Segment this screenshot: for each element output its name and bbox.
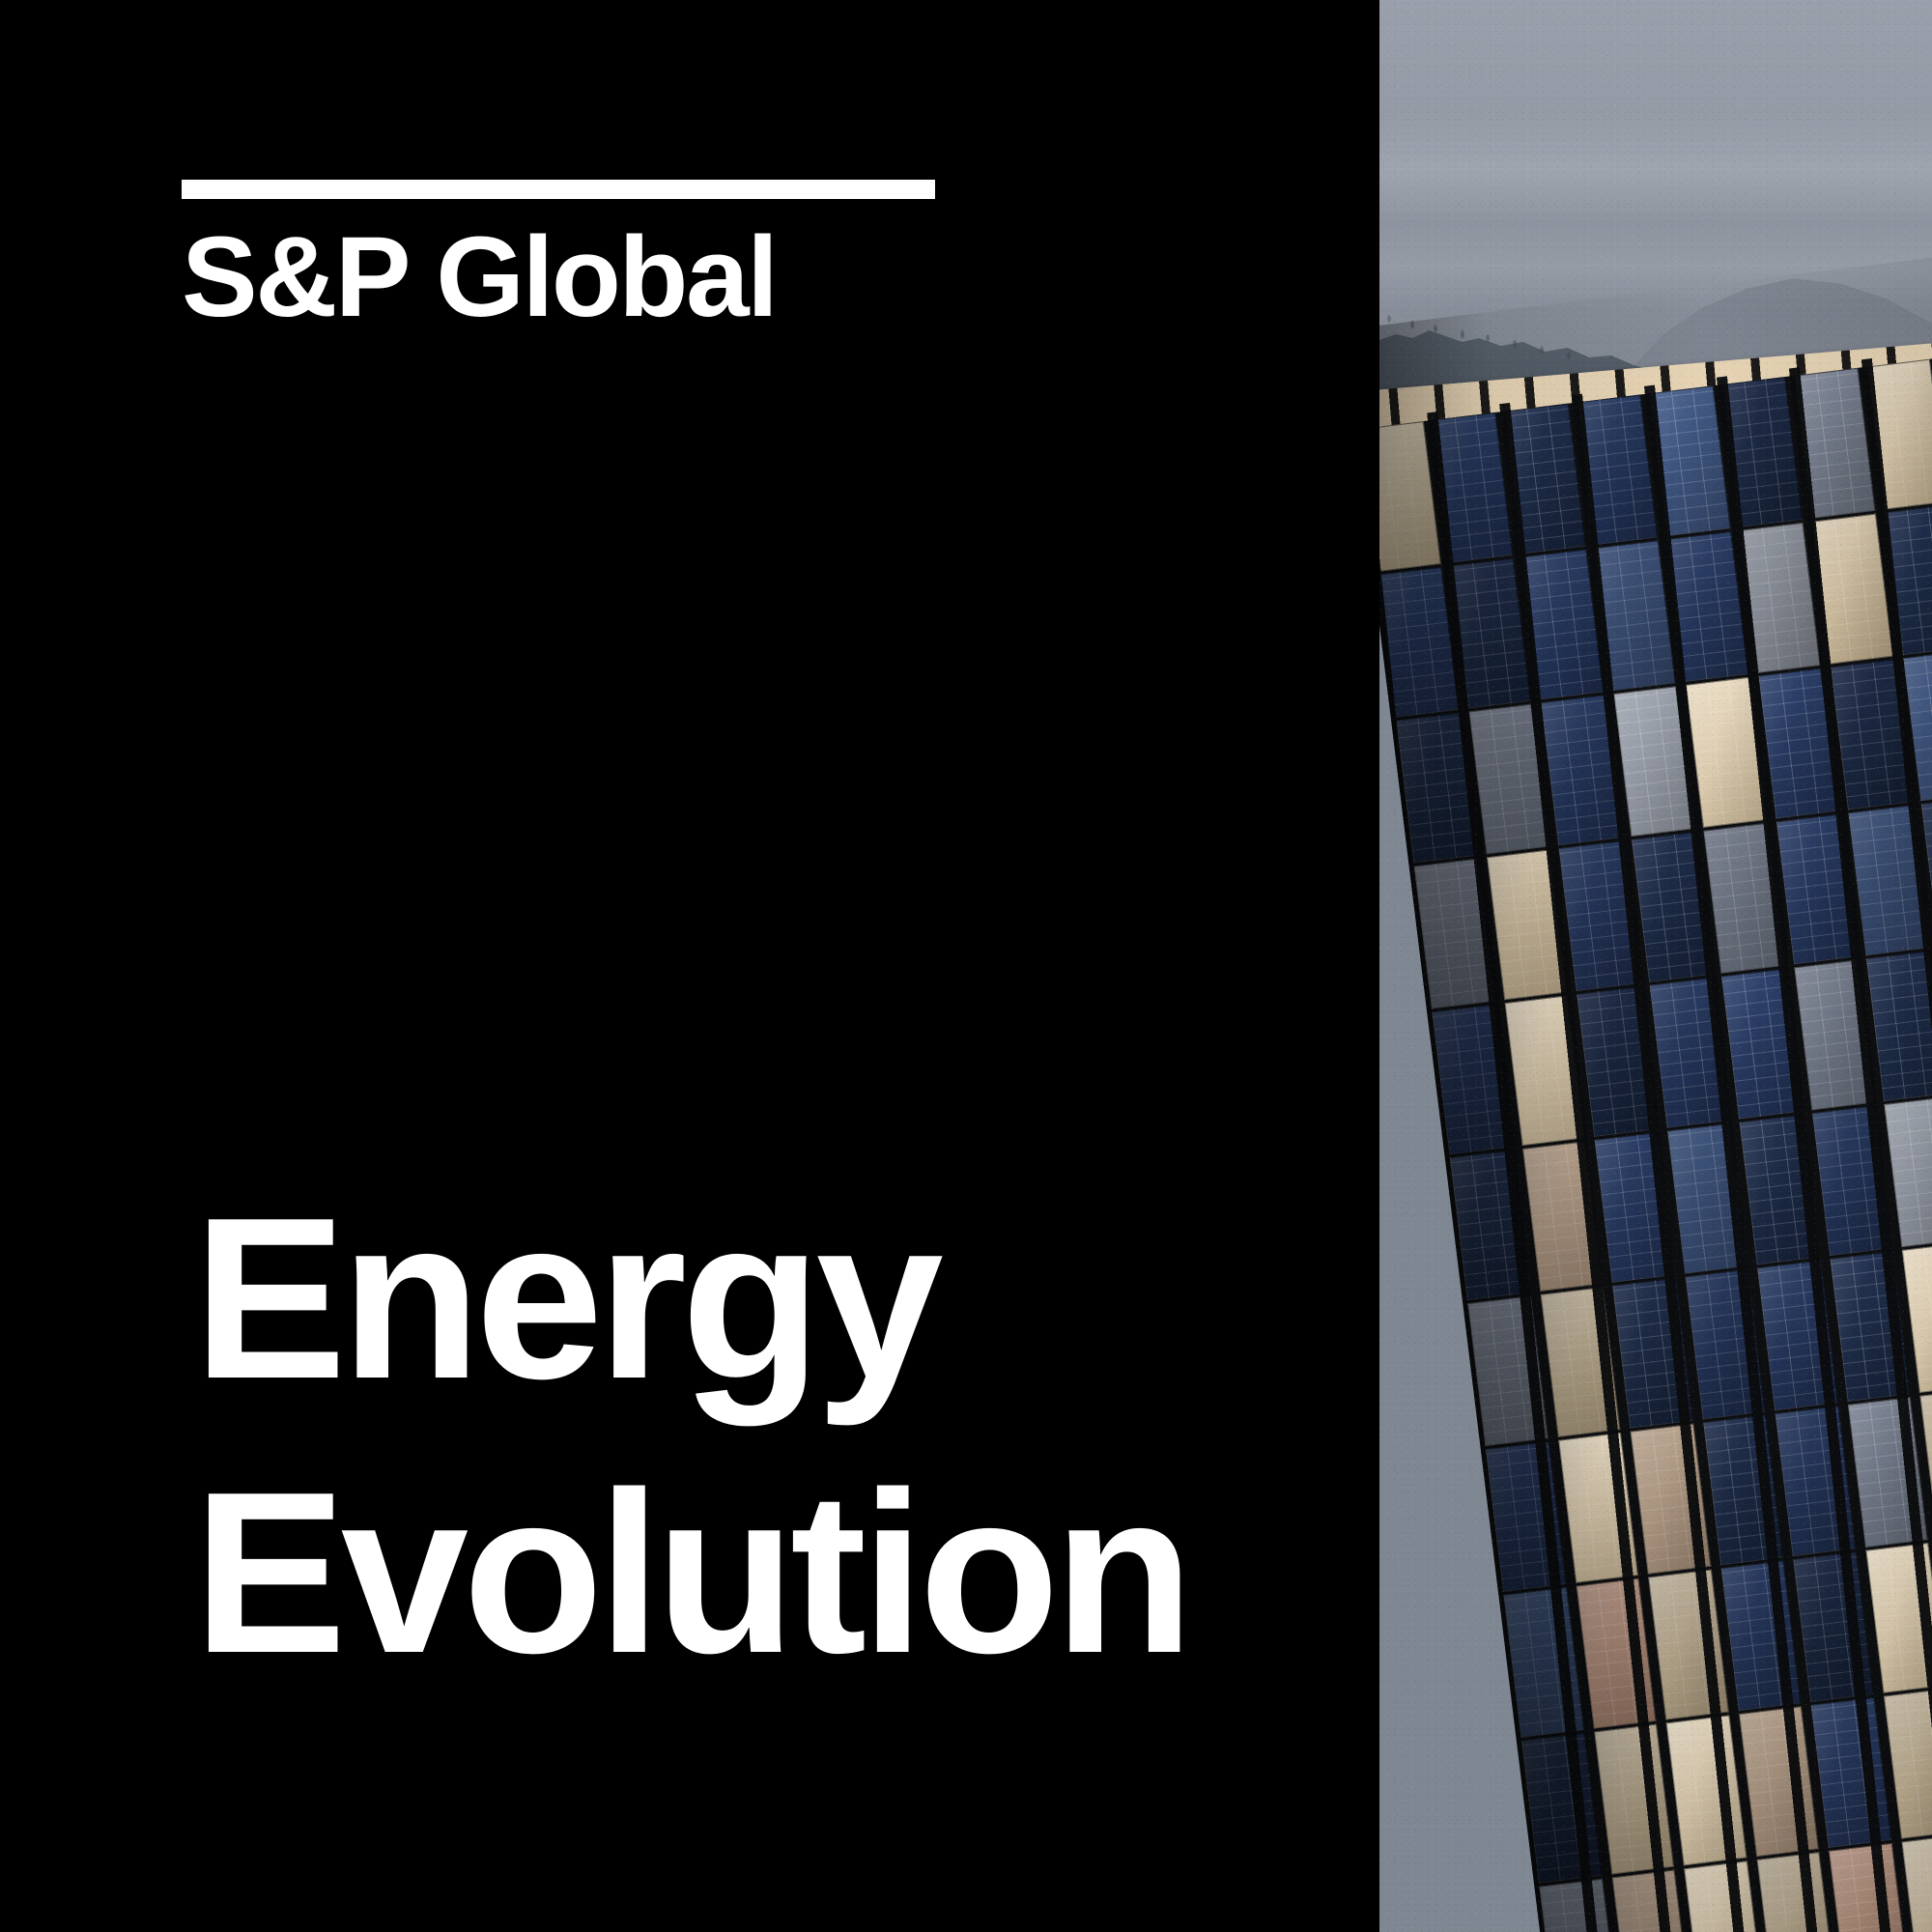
podcast-title-line-1: Energy xyxy=(193,1162,1333,1436)
podcast-title: Energy Evolution xyxy=(193,1162,1333,1711)
solar-panel-cell xyxy=(1505,404,1585,554)
podcast-cover-art: S&P Global Energy Evolution xyxy=(0,0,1932,1932)
title-panel: S&P Global Energy Evolution xyxy=(0,0,1379,1932)
solar-panel-cell xyxy=(1811,1697,1891,1848)
cover-photograph xyxy=(1379,0,1932,1932)
solar-panel-cell xyxy=(1741,523,1821,673)
solar-panel-cell xyxy=(1433,412,1513,563)
solar-panel-facade xyxy=(1379,250,1932,1932)
solar-panel-cell xyxy=(1686,677,1766,828)
solar-panel-cell xyxy=(1486,1441,1566,1592)
solar-panel-cell xyxy=(1559,840,1639,991)
solar-panel-cell xyxy=(1379,421,1440,572)
solar-panel-cell xyxy=(1756,1852,1836,1932)
solar-panel-cell xyxy=(1721,969,1802,1120)
solar-panel-cell xyxy=(1812,1105,1892,1256)
solar-panel-cell xyxy=(1451,558,1531,709)
solar-panel-cell xyxy=(1795,368,1875,519)
solar-panel-cell xyxy=(1668,531,1748,682)
solar-panel-cell xyxy=(1720,1560,1801,1711)
solar-panel-cell xyxy=(1467,1295,1548,1446)
solar-panel-cell xyxy=(1886,504,1932,655)
solar-panel-cell xyxy=(1650,385,1730,536)
solar-panel-cell xyxy=(1540,1287,1620,1437)
solar-panel-cell xyxy=(1831,660,1911,810)
solar-panel-cell xyxy=(1594,1724,1674,1875)
solar-panel-cell xyxy=(1522,1141,1603,1292)
solar-panel-cell xyxy=(1794,959,1874,1110)
solar-panel-cell xyxy=(1667,1123,1747,1274)
podcast-title-line-2: Evolution xyxy=(193,1436,1333,1711)
solar-panel-cell xyxy=(1576,1578,1656,1729)
solar-panel-cell xyxy=(1684,1861,1764,1932)
solar-panel-cell xyxy=(1830,1251,1910,1402)
solar-panel-cell xyxy=(1740,1115,1820,1265)
solar-panel-cell xyxy=(1504,995,1584,1146)
solar-panel-cell xyxy=(1612,1278,1692,1429)
solar-panel-cell xyxy=(1596,540,1676,691)
solar-panel-cell xyxy=(1450,1150,1530,1300)
solar-panel-cell xyxy=(1829,1843,1909,1932)
solar-panel-cell xyxy=(1595,1132,1675,1283)
solar-panel-cell xyxy=(1865,1543,1932,1693)
solar-panel-cell xyxy=(1577,394,1658,545)
solar-panel-cell xyxy=(1757,1260,1837,1410)
solar-panel-cell xyxy=(1503,1587,1583,1738)
solar-panel-cell xyxy=(1648,1570,1728,1720)
solar-panel-cell xyxy=(1414,859,1494,1009)
solar-panel-cell xyxy=(1558,1433,1638,1583)
solar-panel-cell xyxy=(1866,951,1932,1101)
solar-panel-grid xyxy=(1379,350,1932,1932)
solar-panel-cell xyxy=(1722,377,1803,527)
solar-panel-cell xyxy=(1703,1415,1783,1566)
solar-panel-cell xyxy=(1901,1834,1932,1932)
solar-panel-cell xyxy=(1577,986,1657,1137)
solar-panel-cell xyxy=(1739,1706,1819,1857)
solar-panel-cell xyxy=(1523,550,1604,700)
logo-rule-icon xyxy=(182,180,935,199)
solar-panel-cell xyxy=(1758,668,1838,819)
solar-panel-cell xyxy=(1541,695,1621,845)
solar-panel-cell xyxy=(1631,1424,1711,1575)
solar-panel-cell xyxy=(1704,823,1784,974)
solar-panel-cell xyxy=(1776,1406,1856,1556)
sp-global-logo: S&P Global xyxy=(182,180,945,334)
solar-panel-cell xyxy=(1884,1689,1932,1839)
solar-panel-cell xyxy=(1867,359,1932,510)
solar-panel-cell xyxy=(1521,1733,1602,1884)
solar-panel-cell xyxy=(1432,1005,1512,1155)
solar-panel-cell xyxy=(1632,832,1712,982)
solar-panel-cell xyxy=(1685,1269,1765,1420)
solar-panel-cell xyxy=(1813,514,1893,665)
solar-panel-cell xyxy=(1468,704,1548,855)
solar-panel-cell xyxy=(1396,713,1476,864)
logo-wordmark: S&P Global xyxy=(182,220,945,334)
solar-panel-cell xyxy=(1666,1715,1747,1865)
solar-panel-cell xyxy=(1848,1397,1928,1548)
solar-panel-cell xyxy=(1539,1879,1619,1932)
solar-panel-cell xyxy=(1885,1096,1932,1247)
solar-panel-cell xyxy=(1849,805,1929,955)
solar-panel-cell xyxy=(1613,686,1693,837)
solar-panel-cell xyxy=(1379,567,1459,718)
solar-panel-cell xyxy=(1776,814,1857,965)
solar-panel-cell xyxy=(1611,1870,1691,1932)
solar-panel-cell xyxy=(1649,978,1729,1128)
solar-panel-cell xyxy=(1487,849,1567,1000)
solar-panel-cell xyxy=(1793,1551,1873,1702)
